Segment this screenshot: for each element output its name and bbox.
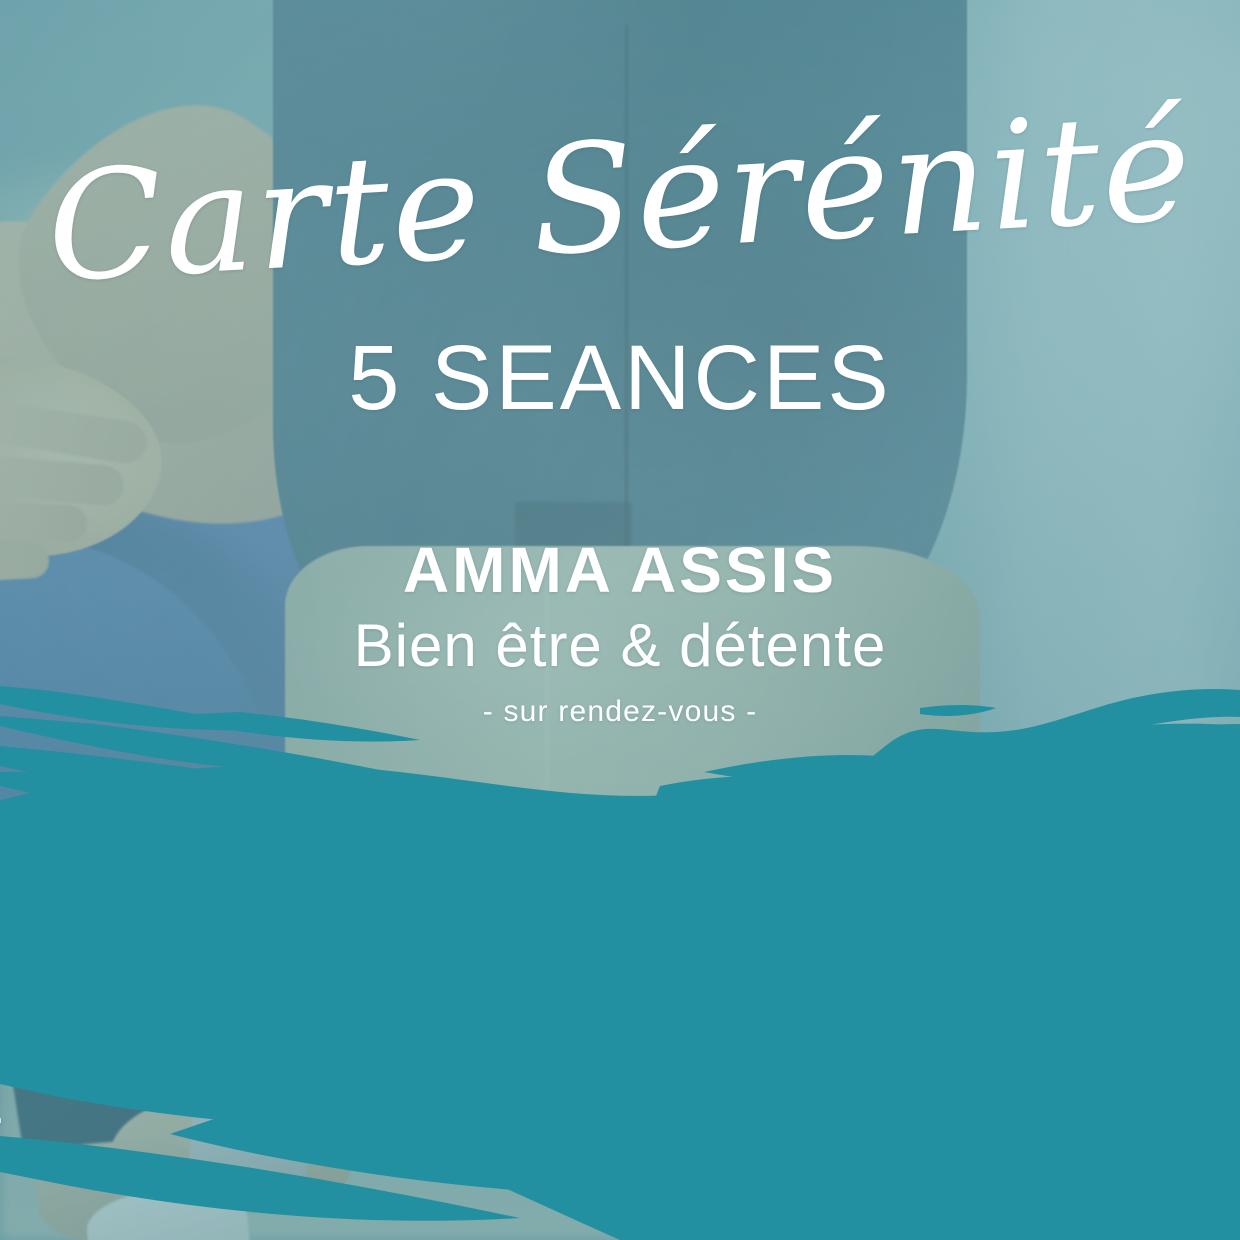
- background-photograph: STRO: [0, 0, 1240, 1240]
- photo-trouser-crease: [546, 570, 548, 892]
- chair-brand-mark: STRO: [228, 1113, 309, 1162]
- photo-client-leg: [670, 1116, 819, 1240]
- poster-canvas: STRO: [0, 0, 1240, 1240]
- photo-massage-chair-plate: STRO: [188, 1056, 315, 1194]
- photo-finger: [0, 501, 87, 544]
